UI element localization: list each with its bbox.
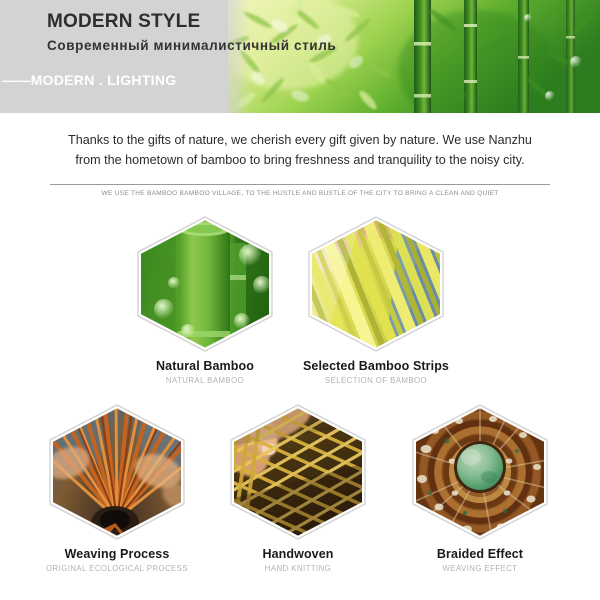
feature-subtitle: NATURAL BAMBOO bbox=[120, 376, 290, 385]
feature-card-natural-bamboo[interactable]: Natural Bamboo NATURAL BAMBOO bbox=[120, 213, 290, 385]
banner-text-block: MODERN STYLE Современный минималистичный… bbox=[0, 0, 600, 113]
hex-image-selected-bamboo-strips bbox=[301, 213, 451, 355]
brand-tagline: ——MODERN . LIGHTING bbox=[2, 72, 176, 88]
feature-subtitle: HAND KNITTING bbox=[213, 564, 383, 573]
intro-caption: WE USE THE BAMBOO BAMBOO VILLAGE, TO THE… bbox=[0, 190, 600, 197]
feature-title: Braided Effect bbox=[395, 547, 565, 561]
hex-image-natural-bamboo bbox=[130, 213, 280, 355]
hex-image-weaving-process bbox=[42, 401, 192, 543]
feature-title: Weaving Process bbox=[32, 547, 202, 561]
intro-paragraph: Thanks to the gifts of nature, we cheris… bbox=[0, 130, 600, 170]
intro-line-1: Thanks to the gifts of nature, we cheris… bbox=[24, 130, 576, 150]
feature-title: Selected Bamboo Strips bbox=[291, 359, 461, 373]
hex-image-handwoven bbox=[223, 401, 373, 543]
feature-subtitle: WEAVING EFFECT bbox=[395, 564, 565, 573]
feature-card-weaving-process[interactable]: Weaving Process ORIGINAL ECOLOGICAL PROC… bbox=[32, 401, 202, 573]
feature-subtitle: ORIGINAL ECOLOGICAL PROCESS bbox=[32, 564, 202, 573]
feature-card-braided-effect[interactable]: Braided Effect WEAVING EFFECT bbox=[395, 401, 565, 573]
header-banner: MODERN STYLE Современный минималистичный… bbox=[0, 0, 600, 113]
intro-line-2: from the hometown of bamboo to bring fre… bbox=[24, 150, 576, 170]
feature-title: Handwoven bbox=[213, 547, 383, 561]
feature-subtitle: SELECTION OF BAMBOO bbox=[291, 376, 461, 385]
hex-image-braided-effect bbox=[405, 401, 555, 543]
page-title: MODERN STYLE bbox=[47, 11, 200, 33]
feature-card-handwoven[interactable]: Handwoven HAND KNITTING bbox=[213, 401, 383, 573]
section-divider bbox=[50, 184, 550, 185]
feature-title: Natural Bamboo bbox=[120, 359, 290, 373]
feature-hex-grid: Natural Bamboo NATURAL BAMBOO bbox=[0, 213, 600, 588]
feature-card-selected-bamboo-strips[interactable]: Selected Bamboo Strips SELECTION OF BAMB… bbox=[291, 213, 461, 385]
page-subtitle-ru: Современный минималистичный стиль bbox=[47, 38, 336, 53]
